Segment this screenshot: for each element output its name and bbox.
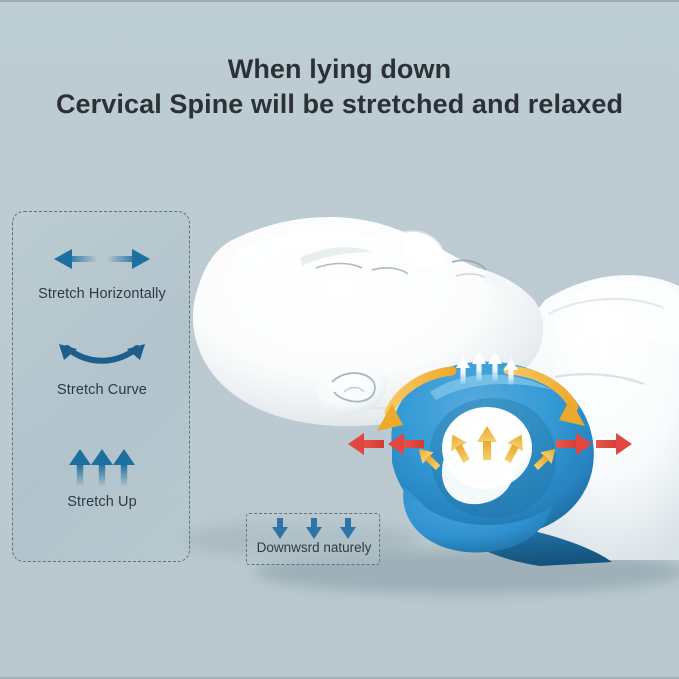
- orange-curved-spread-arrows: [377, 370, 585, 431]
- callout-downward-naturally: Downwsrd naturely: [246, 513, 380, 565]
- mannequin-neck: [393, 320, 556, 428]
- legend-label-stretch-horizontally: Stretch Horizontally: [13, 286, 191, 302]
- legend-panel: Stretch Horizontally Stretch Curve: [12, 211, 190, 562]
- legend-label-stretch-curve: Stretch Curve: [13, 382, 191, 398]
- ear: [309, 351, 394, 425]
- callout-label: Downwsrd naturely: [247, 540, 381, 555]
- triple-down-arrow-icon: [247, 518, 381, 540]
- blue-neck-pillow: [391, 362, 612, 566]
- white-up-arrows: [456, 352, 518, 385]
- legend-item-stretch-up: Stretch Up: [13, 446, 191, 510]
- title-line-1: When lying down: [0, 52, 679, 87]
- top-edge-line: [0, 0, 679, 2]
- infographic-canvas: When lying down Cervical Spine will be s…: [0, 0, 679, 679]
- legend-item-stretch-curve: Stretch Curve: [13, 334, 191, 398]
- mannequin-head: [193, 217, 543, 426]
- double-horizontal-arrow-icon: [13, 238, 191, 280]
- page-title: When lying down Cervical Spine will be s…: [0, 52, 679, 121]
- yellow-radiating-arrows: [413, 426, 561, 473]
- legend-label-stretch-up: Stretch Up: [13, 494, 191, 510]
- triple-up-arrow-icon: [13, 446, 191, 488]
- red-horizontal-arrows: [348, 433, 632, 455]
- mannequin-torso: [502, 275, 679, 560]
- curved-double-arrow-icon: [13, 334, 191, 376]
- legend-item-stretch-horizontally: Stretch Horizontally: [13, 238, 191, 302]
- title-line-2: Cervical Spine will be stretched and rel…: [0, 87, 679, 122]
- pillow-center-cavity: [442, 407, 532, 489]
